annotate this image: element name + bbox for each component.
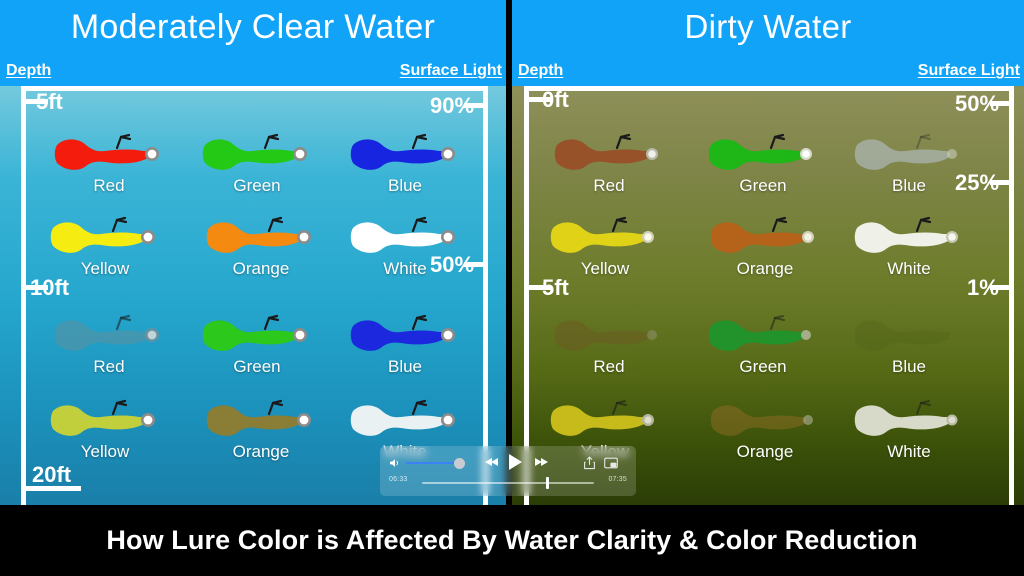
lure-cell: Green	[182, 310, 332, 377]
lure-cell: Red	[534, 310, 684, 377]
lure-cell: Orange	[690, 212, 840, 279]
lure-icon	[853, 310, 965, 356]
caption-bar: How Lure Color is Affected By Water Clar…	[0, 505, 1024, 576]
lure-label: Orange	[690, 442, 840, 462]
lure-label: Green	[688, 176, 838, 196]
lure-graphic	[534, 129, 684, 175]
panel-moderately-clear-water: Moderately Clear Water Depth Surface Lig…	[0, 0, 506, 505]
lure-label: White	[834, 259, 984, 279]
lure-label: Yellow	[530, 259, 680, 279]
lure-icon	[553, 129, 665, 175]
lure-icon	[709, 212, 821, 258]
lure-label: White	[834, 442, 984, 462]
progress-bar-playhead[interactable]	[546, 477, 549, 489]
current-time-label: 06:33	[389, 476, 408, 483]
lure-icon	[853, 212, 965, 258]
lure-label: Red	[534, 176, 684, 196]
lure-label: Blue	[330, 176, 480, 196]
lure-cell: Yellow	[30, 212, 180, 279]
lure-graphic	[688, 129, 838, 175]
lure-cell: Red	[534, 129, 684, 196]
lure-cell: Orange	[186, 212, 336, 279]
progress-bar-track[interactable]	[422, 482, 594, 484]
rewind-icon[interactable]	[484, 455, 500, 469]
lure-cell: White	[834, 395, 984, 462]
lure-graphic	[690, 395, 840, 441]
lure-label: Green	[182, 357, 332, 377]
lure-label: Orange	[186, 442, 336, 462]
lure-cell: White	[834, 212, 984, 279]
lure-cell: Orange	[690, 395, 840, 462]
lure-icon	[553, 310, 665, 356]
lure-icon	[53, 129, 165, 175]
screenshot-root: Moderately Clear Water Depth Surface Lig…	[0, 0, 1024, 576]
lure-cell: White	[330, 212, 480, 279]
lure-label: Yellow	[30, 259, 180, 279]
lure-cell: Green	[688, 129, 838, 196]
lure-cell: Blue	[330, 310, 480, 377]
lure-graphic	[530, 395, 680, 441]
lure-graphic	[30, 212, 180, 258]
play-icon[interactable]	[505, 452, 525, 472]
lure-icon	[709, 395, 821, 441]
lure-graphic	[330, 212, 480, 258]
share-icon[interactable]	[583, 456, 596, 470]
lure-grid-right: Red Green	[512, 0, 1024, 505]
player-top-row	[380, 450, 636, 474]
lure-graphic	[30, 395, 180, 441]
lure-graphic	[834, 129, 984, 175]
lure-graphic	[34, 310, 184, 356]
lure-icon	[349, 212, 461, 258]
lure-label: Blue	[834, 357, 984, 377]
volume-slider-knob[interactable]	[454, 458, 465, 469]
lure-icon	[201, 310, 313, 356]
lure-graphic	[834, 395, 984, 441]
fast-forward-icon[interactable]	[533, 455, 549, 469]
lure-icon	[349, 395, 461, 441]
lure-graphic	[834, 212, 984, 258]
lure-icon	[707, 310, 819, 356]
lure-icon	[201, 129, 313, 175]
lure-cell: Red	[34, 310, 184, 377]
lure-graphic	[330, 129, 480, 175]
panel-dirty-water: Dirty Water Depth Surface Light 0ft 5ft …	[512, 0, 1024, 505]
lure-graphic	[530, 212, 680, 258]
lure-label: Red	[534, 357, 684, 377]
lure-label: Green	[688, 357, 838, 377]
volume-slider-fill	[405, 462, 459, 464]
lure-label: Orange	[186, 259, 336, 279]
total-time-label: 07:35	[608, 476, 627, 483]
lure-graphic	[330, 310, 480, 356]
lure-graphic	[186, 395, 336, 441]
lure-icon	[549, 212, 661, 258]
lure-cell: Orange	[186, 395, 336, 462]
lure-cell: Green	[182, 129, 332, 196]
lure-icon	[49, 212, 161, 258]
lure-cell: Red	[34, 129, 184, 196]
lure-graphic	[186, 212, 336, 258]
lure-icon	[853, 129, 965, 175]
lure-icon	[549, 395, 661, 441]
lure-label: Blue	[330, 357, 480, 377]
lure-label: Red	[34, 357, 184, 377]
lure-graphic	[182, 129, 332, 175]
lure-label: Green	[182, 176, 332, 196]
lure-label: Blue	[834, 176, 984, 196]
lure-graphic	[834, 310, 984, 356]
video-player-controls[interactable]: 06:33 07:35	[380, 446, 636, 496]
lure-icon	[349, 310, 461, 356]
lure-label: Yellow	[30, 442, 180, 462]
lure-cell: Green	[688, 310, 838, 377]
player-bottom-row: 06:33 07:35	[380, 475, 636, 491]
lure-label: White	[330, 259, 480, 279]
lure-graphic	[182, 310, 332, 356]
volume-icon[interactable]	[389, 458, 401, 468]
lure-icon	[53, 310, 165, 356]
lure-graphic	[690, 212, 840, 258]
lure-icon	[707, 129, 819, 175]
lure-icon	[205, 395, 317, 441]
lure-graphic	[330, 395, 480, 441]
lure-icon	[205, 212, 317, 258]
lure-cell: Blue	[834, 310, 984, 377]
lure-icon	[853, 395, 965, 441]
lure-label: Red	[34, 176, 184, 196]
lure-graphic	[534, 310, 684, 356]
lure-graphic	[34, 129, 184, 175]
lure-graphic	[688, 310, 838, 356]
lure-cell: Blue	[330, 129, 480, 196]
picture-in-picture-icon[interactable]	[604, 456, 618, 470]
lure-cell: Blue	[834, 129, 984, 196]
lure-grid-left: Red Green	[0, 0, 506, 505]
lure-icon	[349, 129, 461, 175]
lure-cell: Yellow	[30, 395, 180, 462]
caption-text: How Lure Color is Affected By Water Clar…	[106, 525, 917, 556]
lure-label: Orange	[690, 259, 840, 279]
lure-icon	[49, 395, 161, 441]
lure-cell: Yellow	[530, 212, 680, 279]
